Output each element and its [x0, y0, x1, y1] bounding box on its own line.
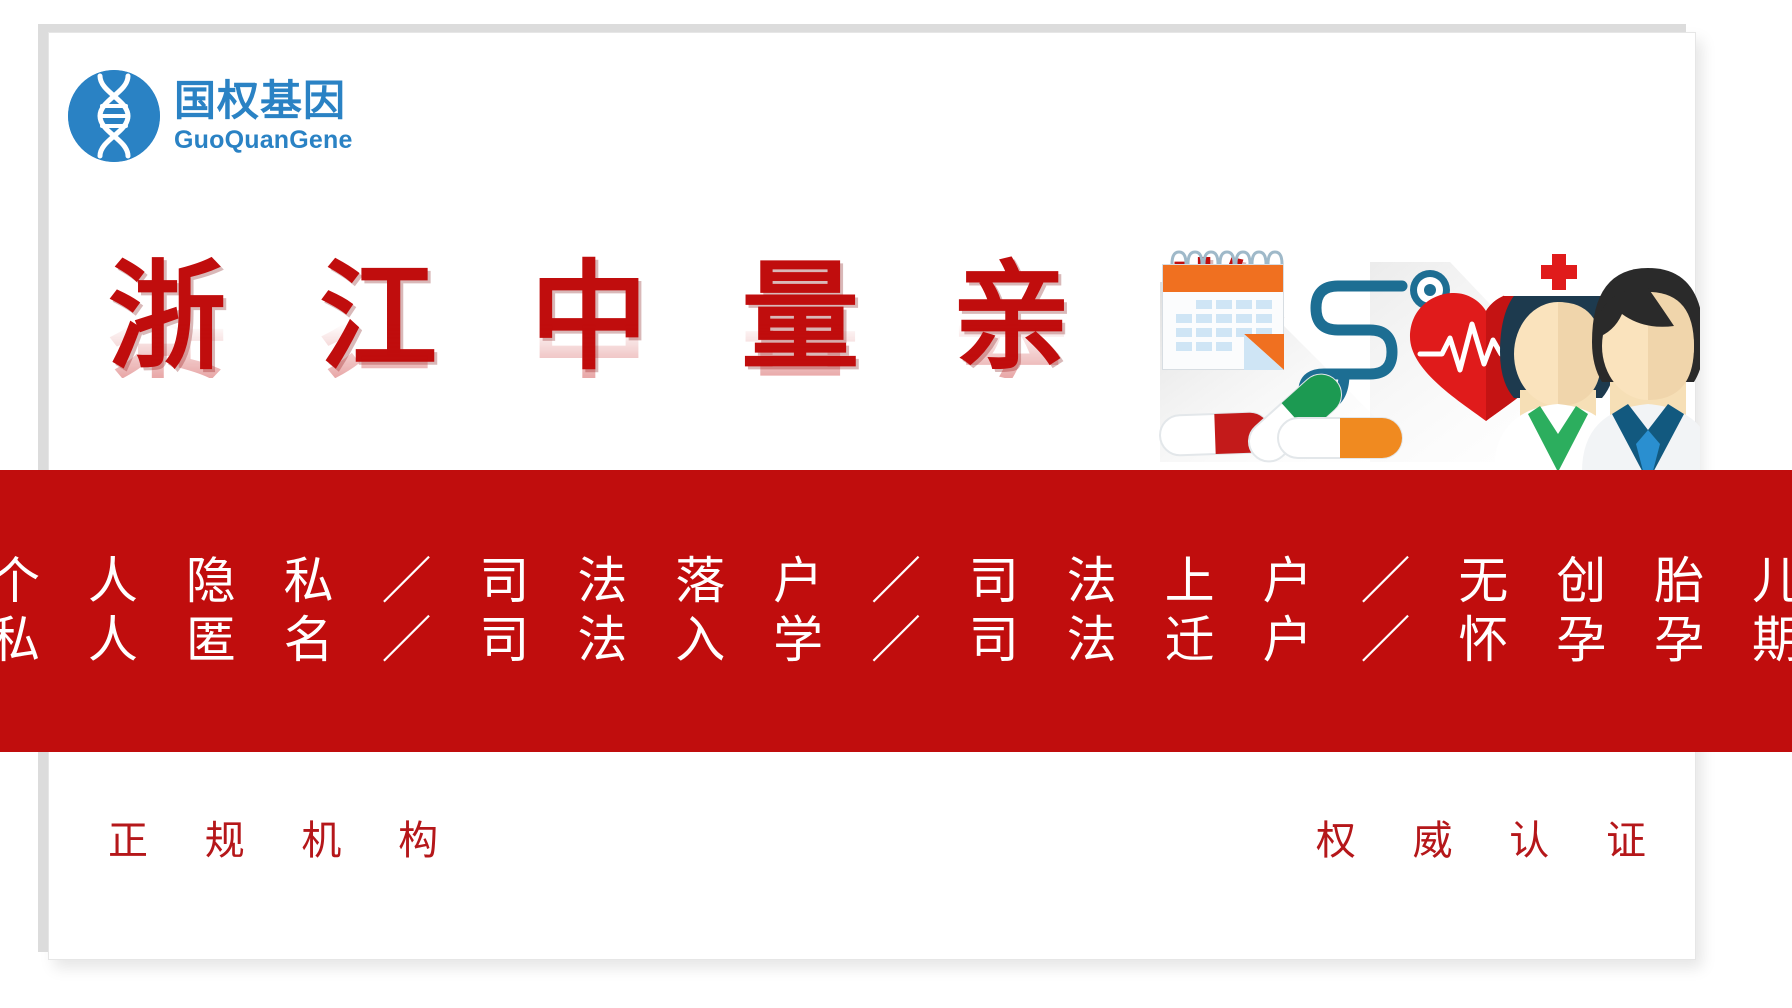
- pill-orange-icon: [1278, 418, 1402, 458]
- medical-illustration: [1120, 222, 1700, 472]
- brand-name-en: GuoQuanGene: [174, 128, 353, 153]
- hero-title-reflection: 浙 江 中 量 亲 鉴: [108, 260, 1088, 378]
- calendar-icon: [1162, 252, 1284, 370]
- doctor-avatar: [1582, 268, 1700, 472]
- hero-title-block: 浙 江 中 量 亲 鉴 浙 江 中 量 亲 鉴: [108, 258, 1088, 448]
- footer-row: 正 规 机 构 权 威 认 证: [108, 808, 1668, 866]
- dna-circle-icon: [68, 70, 160, 162]
- banner-stage: 国权基因 GuoQuanGene 浙 江 中 量 亲 鉴 浙 江 中 量 亲 鉴: [0, 0, 1792, 1008]
- brand-name-cn: 国权基因: [174, 80, 353, 122]
- services-band: 个 人 隐 私 ／ 司 法 落 户 ／ 司 法 上 户 ／ 无 创 胎 儿 私 …: [0, 470, 1792, 752]
- footer-label-right: 权 威 认 证: [1316, 808, 1668, 866]
- footer-label-left: 正 规 机 构: [108, 808, 460, 866]
- services-line-1: 个 人 隐 私 ／ 司 法 落 户 ／ 司 法 上 户 ／ 无 创 胎 儿: [0, 552, 1792, 611]
- services-line-2: 私 人 匿 名 ／ 司 法 入 学 ／ 司 法 迁 户 ／ 怀 孕 孕 期: [0, 611, 1792, 670]
- brand-logo[interactable]: 国权基因 GuoQuanGene: [68, 70, 353, 162]
- brand-text: 国权基因 GuoQuanGene: [174, 80, 353, 153]
